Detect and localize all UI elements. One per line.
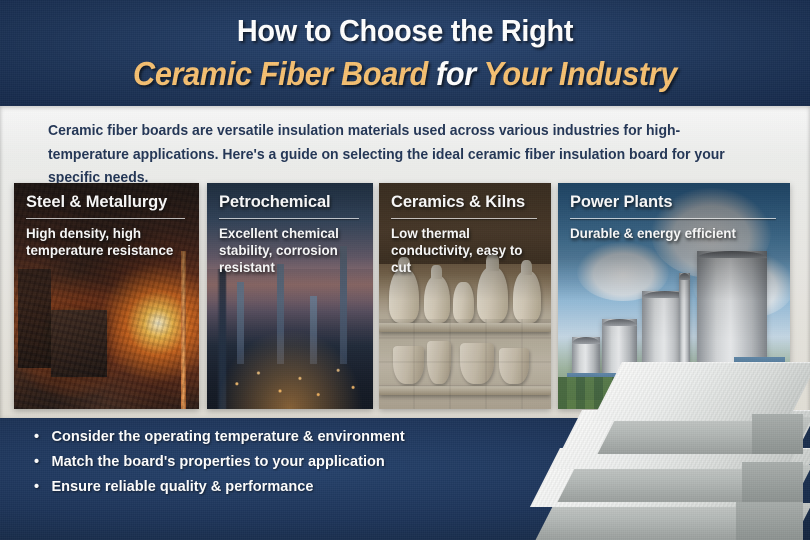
list-item: • Match the board's properties to your a… — [34, 453, 405, 470]
list-item: • Ensure reliable quality & performance — [34, 478, 405, 495]
card-text-block: Petrochemical Excellent chemical stabili… — [219, 193, 363, 277]
industry-card-petrochemical[interactable]: Petrochemical Excellent chemical stabili… — [207, 183, 373, 409]
ceramic-fiber-board-stack — [545, 358, 810, 540]
card-divider — [26, 218, 185, 219]
card-heading: Power Plants — [570, 193, 780, 212]
page-title-highlight-product: Ceramic Fiber Board — [133, 55, 428, 92]
bullet-point-icon: • — [34, 454, 51, 469]
card-divider — [219, 218, 359, 219]
card-divider — [570, 218, 776, 219]
card-divider — [391, 218, 537, 219]
bullet-point-icon: • — [34, 479, 51, 494]
card-description: Excellent chemical stability, corrosion … — [219, 226, 363, 277]
industry-card-steel-metallurgy[interactable]: Steel & Metallurgy High density, high te… — [14, 183, 199, 409]
card-description: High density, high temperature resistanc… — [26, 226, 189, 260]
card-heading: Ceramics & Kilns — [391, 193, 541, 212]
infographic-page: How to Choose the Right Ceramic Fiber Bo… — [0, 0, 810, 540]
card-text-block: Steel & Metallurgy High density, high te… — [26, 193, 189, 260]
page-title-line-1: How to Choose the Right — [28, 0, 781, 49]
list-item: • Consider the operating temperature & e… — [34, 428, 405, 445]
bullet-point-icon: • — [34, 429, 51, 444]
card-text-block: Power Plants Durable & energy efficient — [570, 193, 780, 243]
page-title-connector: for — [436, 55, 476, 92]
takeaway-list: • Consider the operating temperature & e… — [34, 428, 416, 503]
card-description: Low thermal conductivity, easy to cut — [391, 226, 541, 277]
page-title-highlight-audience: Your Industry — [483, 55, 677, 92]
list-item-label: Consider the operating temperature & env… — [51, 428, 404, 445]
card-description: Durable & energy efficient — [570, 226, 780, 243]
page-title-line-2: Ceramic Fiber Board for Your Industry — [28, 49, 781, 93]
card-heading: Steel & Metallurgy — [26, 193, 189, 212]
board-top — [607, 362, 803, 454]
card-heading: Petrochemical — [219, 193, 363, 212]
card-text-block: Ceramics & Kilns Low thermal conductivit… — [391, 193, 541, 277]
list-item-label: Ensure reliable quality & performance — [51, 478, 313, 495]
header-banner: How to Choose the Right Ceramic Fiber Bo… — [0, 0, 810, 108]
list-item-label: Match the board's properties to your app… — [51, 453, 384, 470]
industry-card-ceramics-kilns[interactable]: Ceramics & Kilns Low thermal conductivit… — [379, 183, 551, 409]
intro-paragraph: Ceramic fiber boards are versatile insul… — [48, 120, 735, 191]
